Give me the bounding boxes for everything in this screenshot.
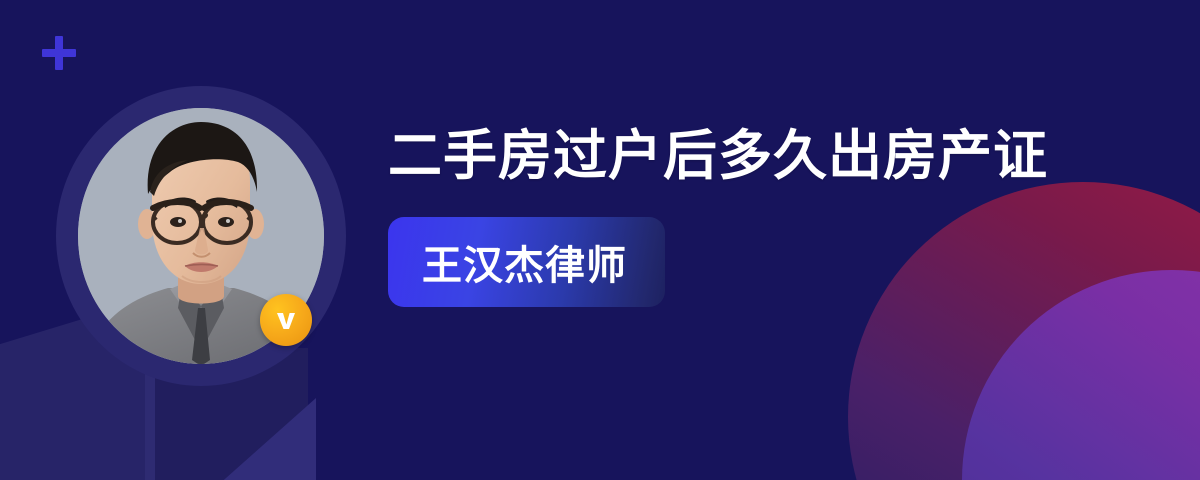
author-name-label: 王汉杰律师 bbox=[422, 233, 627, 291]
avatar bbox=[56, 86, 346, 386]
page-title: 二手房过户后多久出房产证 bbox=[388, 118, 1088, 195]
article-cover-banner: 二手房过户后多久出房产证 王汉杰律师 bbox=[0, 0, 1200, 480]
cover-content: 二手房过户后多久出房产证 王汉杰律师 bbox=[388, 118, 1178, 307]
plus-icon bbox=[42, 36, 76, 70]
author-name-badge[interactable]: 王汉杰律师 bbox=[388, 217, 665, 307]
verified-check-icon bbox=[260, 294, 312, 346]
